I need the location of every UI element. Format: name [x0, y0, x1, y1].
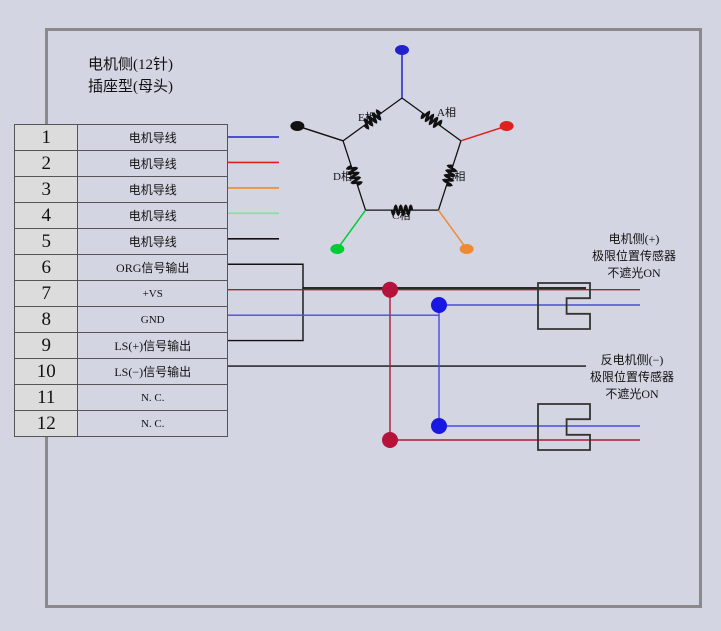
pin-signal-cell: 电机导线 — [78, 151, 228, 177]
table-row: 8GND — [15, 307, 228, 333]
pin-signal-cell: GND — [78, 307, 228, 333]
sensor-caption-negative-line2: 极限位置传感器 — [590, 369, 674, 386]
pin-number-cell: 6 — [15, 255, 78, 281]
pin-signal-cell: 电机导线 — [78, 203, 228, 229]
sensor-caption-negative: 反电机侧(−) 极限位置传感器 不遮光ON — [590, 352, 674, 402]
sensor-caption-negative-line1: 反电机侧(−) — [590, 352, 674, 369]
lead-wire-black — [297, 126, 343, 141]
lead-wire-red — [461, 126, 507, 141]
wire-ls-positive — [228, 288, 303, 341]
lead-wire-orange — [438, 210, 466, 249]
lead-terminal-red — [500, 121, 514, 131]
pin-number-cell: 12 — [15, 411, 78, 437]
phase-label-c: C相 — [392, 207, 410, 223]
sensor-caption-positive-line2: 极限位置传感器 — [592, 248, 676, 265]
sensor-caption-positive: 电机侧(+) 极限位置传感器 不遮光ON — [592, 231, 676, 281]
pin-number-cell: 8 — [15, 307, 78, 333]
lead-terminal-black — [290, 121, 304, 131]
table-row: 4电机导线 — [15, 203, 228, 229]
phase-label-e: E相 — [358, 109, 376, 125]
table-row: 5电机导线 — [15, 229, 228, 255]
sensor-caption-positive-line1: 电机侧(+) — [592, 231, 676, 248]
pin-number-cell: 1 — [15, 125, 78, 151]
phase-label-d: D相 — [333, 168, 352, 184]
pin-wire-stubs — [228, 137, 279, 239]
pin-signal-cell: N. C. — [78, 411, 228, 437]
pin-number-cell: 5 — [15, 229, 78, 255]
table-row: 7+VS — [15, 281, 228, 307]
table-row: 12N. C. — [15, 411, 228, 437]
sensor-harness — [228, 264, 640, 440]
table-row: 3电机导线 — [15, 177, 228, 203]
sensor-caption-positive-line3: 不遮光ON — [592, 265, 676, 282]
pin-signal-cell: 电机导线 — [78, 125, 228, 151]
table-row: 11N. C. — [15, 385, 228, 411]
pin-signal-cell: +VS — [78, 281, 228, 307]
pin-assignment-table: 1电机导线2电机导线3电机导线4电机导线5电机导线6ORG信号输出7+VS8GN… — [14, 124, 228, 437]
pin-signal-cell: 电机导线 — [78, 229, 228, 255]
table-row: 9LS(+)信号输出 — [15, 333, 228, 359]
pin-signal-cell: ORG信号输出 — [78, 255, 228, 281]
pin-number-cell: 4 — [15, 203, 78, 229]
pin-signal-cell: LS(−)信号输出 — [78, 359, 228, 385]
lead-terminal-blue — [395, 45, 409, 55]
pin-number-cell: 3 — [15, 177, 78, 203]
pin-signal-cell: 电机导线 — [78, 177, 228, 203]
pin-number-cell: 2 — [15, 151, 78, 177]
pin-signal-cell: LS(+)信号输出 — [78, 333, 228, 359]
pin-number-cell: 11 — [15, 385, 78, 411]
wire-org-signal — [228, 264, 586, 288]
sensor-symbol-negative — [538, 404, 590, 450]
pin-number-cell: 7 — [15, 281, 78, 307]
junction-dot-vs-upper — [382, 282, 398, 298]
junction-dot-gnd-lower — [431, 418, 447, 434]
pin-number-cell: 10 — [15, 359, 78, 385]
junction-dot-vs-lower — [382, 432, 398, 448]
pin-signal-cell: N. C. — [78, 385, 228, 411]
diagram-canvas: 电机侧(12针) 插座型(母头) 1电机导线2电机导线3电机导线4电机导线5电机… — [0, 0, 721, 631]
table-row: 10LS(−)信号输出 — [15, 359, 228, 385]
pin-number-cell: 9 — [15, 333, 78, 359]
table-row: 6ORG信号输出 — [15, 255, 228, 281]
lead-wire-green — [337, 210, 365, 249]
table-row: 2电机导线 — [15, 151, 228, 177]
phase-label-b: B相 — [447, 168, 465, 184]
phase-label-a: A相 — [437, 104, 456, 120]
junction-dots — [382, 282, 447, 448]
junction-dot-gnd-upper — [431, 297, 447, 313]
sensor-caption-negative-line3: 不遮光ON — [590, 386, 674, 403]
lead-terminal-orange — [460, 244, 474, 254]
table-row: 1电机导线 — [15, 125, 228, 151]
lead-terminal-green — [330, 244, 344, 254]
